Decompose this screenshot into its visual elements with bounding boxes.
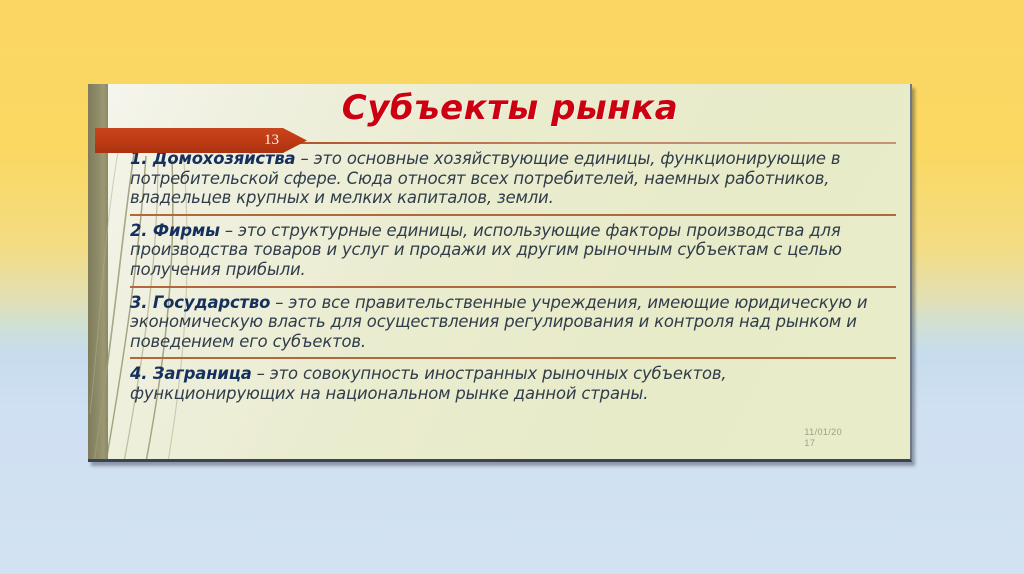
- list-item: 1. Домохозяйства – это основные хозяйств…: [108, 144, 904, 214]
- date-stamp-line-1: 11/01/20: [804, 427, 842, 438]
- slide-body: 1. Домохозяйства – это основные хозяйств…: [108, 142, 904, 455]
- slide: Субъекты рынка 1. Домохозяйства – это ос…: [88, 84, 912, 462]
- date-stamp: 11/01/20 17: [804, 427, 842, 449]
- list-item: 3. Государство – это все правительственн…: [108, 288, 904, 358]
- list-item-lead: 2. Фирмы: [130, 221, 220, 240]
- list-item-text: – это структурные единицы, использующие …: [130, 221, 842, 279]
- page-title: Субъекты рынка: [108, 88, 912, 128]
- list-item-lead: 3. Государство: [130, 293, 270, 312]
- list-item-lead: 4. Заграница: [130, 364, 252, 383]
- list-item: 2. Фирмы – это структурные единицы, испо…: [108, 216, 904, 286]
- page-number: 13: [264, 132, 279, 148]
- date-stamp-line-2: 17: [804, 438, 842, 449]
- presentation-stage: Субъекты рынка 1. Домохозяйства – это ос…: [0, 0, 1024, 574]
- page-number-badge: 13: [95, 128, 307, 153]
- list-item: 4. Заграница – это совокупность иностран…: [108, 359, 904, 409]
